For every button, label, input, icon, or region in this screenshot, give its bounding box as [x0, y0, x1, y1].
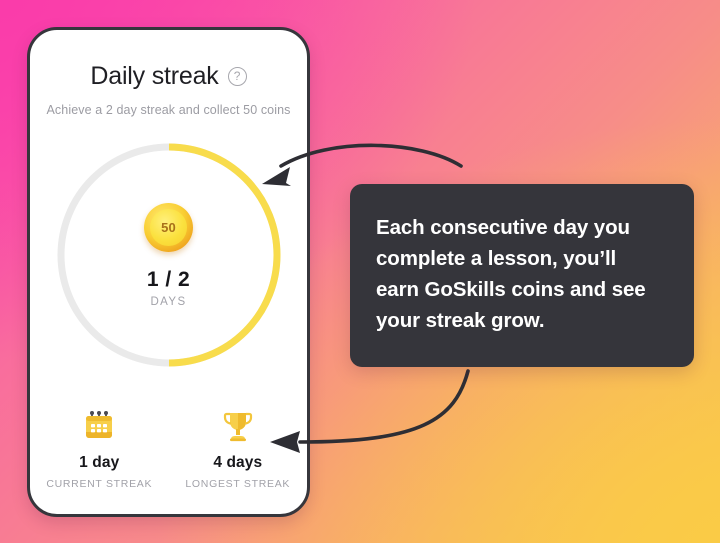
tooltip-callout: Each consecutive day you complete a less…: [350, 184, 694, 367]
page-title: Daily streak: [90, 62, 218, 91]
card-header: Daily streak ?: [30, 62, 307, 91]
calendar-icon: [82, 406, 116, 446]
streak-stats: 1 day CURRENT STREAK 4 days LO: [30, 406, 307, 490]
progress-ring: 50 1 / 2 DAYS: [57, 143, 281, 367]
trophy-icon: [221, 406, 255, 446]
current-streak-label: CURRENT STREAK: [46, 478, 152, 490]
longest-streak-label: LONGEST STREAK: [185, 478, 290, 490]
daily-streak-card: Daily streak ? Achieve a 2 day streak an…: [27, 27, 310, 517]
card-subtitle: Achieve a 2 day streak and collect 50 co…: [30, 103, 307, 117]
progress-ring-center: 50 1 / 2 DAYS: [57, 143, 281, 367]
arrow-to-trophy-line: [300, 371, 468, 442]
coin-value: 50: [161, 220, 176, 235]
current-streak-value: 1 day: [79, 454, 119, 472]
gold-coin-icon: 50: [144, 203, 193, 252]
tooltip-text: Each consecutive day you complete a less…: [376, 212, 664, 337]
streak-count: 1 / 2: [147, 268, 190, 292]
longest-streak-value: 4 days: [213, 454, 262, 472]
current-streak-stat: 1 day CURRENT STREAK: [30, 406, 169, 490]
question-mark-circle-icon[interactable]: ?: [228, 67, 247, 86]
streak-unit-label: DAYS: [150, 296, 186, 308]
screenshot-stage: Daily streak ? Achieve a 2 day streak an…: [0, 0, 720, 543]
longest-streak-stat: 4 days LONGEST STREAK: [169, 406, 308, 490]
